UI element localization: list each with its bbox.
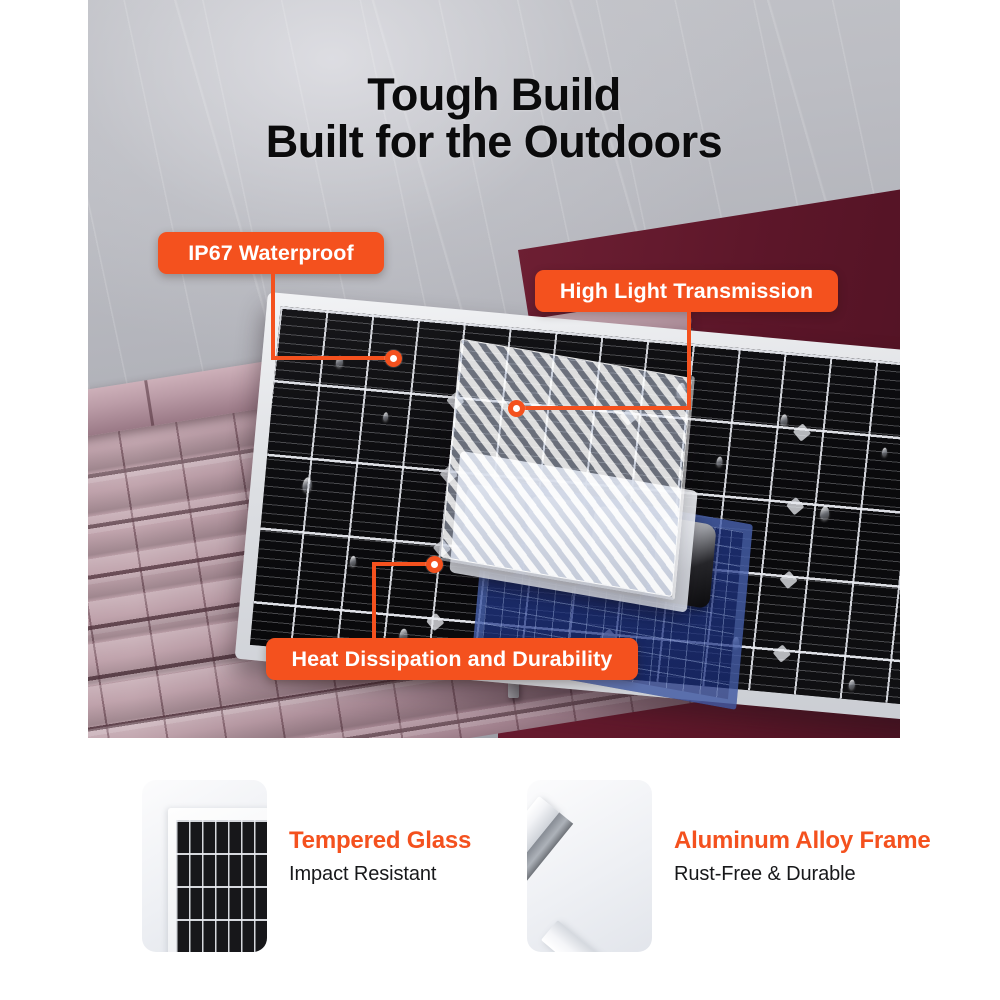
leader-line-hlt-horizontal bbox=[518, 406, 691, 410]
panel-cells-shape bbox=[176, 820, 267, 952]
headline-line-1: Tough Build bbox=[88, 72, 900, 119]
product-infographic: Tough Build Built for the Outdoors IP67 … bbox=[0, 0, 1000, 1000]
frame-corner-shape bbox=[535, 790, 652, 940]
feature-subtitle-aluminum-frame: Rust-Free & Durable bbox=[674, 863, 931, 886]
feature-subtitle-tempered-glass: Impact Resistant bbox=[289, 863, 471, 886]
aluminum-frame-thumbnail bbox=[527, 780, 652, 952]
feature-card-tempered-glass[interactable]: Tempered Glass Impact Resistant bbox=[142, 780, 471, 952]
glass-layer-edge bbox=[440, 336, 695, 600]
leader-dot-ip67 bbox=[385, 350, 402, 367]
callout-ip67-waterproof[interactable]: IP67 Waterproof bbox=[158, 232, 384, 274]
callout-high-light-transmission[interactable]: High Light Transmission bbox=[535, 270, 838, 312]
leader-line-hlt-vertical bbox=[687, 310, 691, 410]
leader-dot-heat bbox=[426, 556, 443, 573]
leader-line-heat-horizontal bbox=[372, 562, 434, 566]
leader-dot-hlt bbox=[508, 400, 525, 417]
page-title: Tough Build Built for the Outdoors bbox=[88, 72, 900, 166]
leader-line-ip67-vertical bbox=[271, 272, 275, 360]
feature-cards: Tempered Glass Impact Resistant Aluminum… bbox=[0, 760, 1000, 1000]
frame-arm-lower bbox=[541, 920, 652, 952]
feature-card-aluminum-frame[interactable]: Aluminum Alloy Frame Rust-Free & Durable bbox=[527, 780, 931, 952]
feature-title-aluminum-frame: Aluminum Alloy Frame bbox=[674, 826, 931, 855]
tempered-glass-thumbnail bbox=[142, 780, 267, 952]
callout-heat-dissipation[interactable]: Heat Dissipation and Durability bbox=[266, 638, 638, 680]
leader-line-heat-vertical bbox=[372, 566, 376, 640]
feature-title-tempered-glass: Tempered Glass bbox=[289, 826, 471, 855]
headline-line-2: Built for the Outdoors bbox=[88, 119, 900, 166]
hero-photo: Tough Build Built for the Outdoors bbox=[88, 0, 900, 738]
leader-line-ip67-horizontal bbox=[271, 356, 395, 360]
